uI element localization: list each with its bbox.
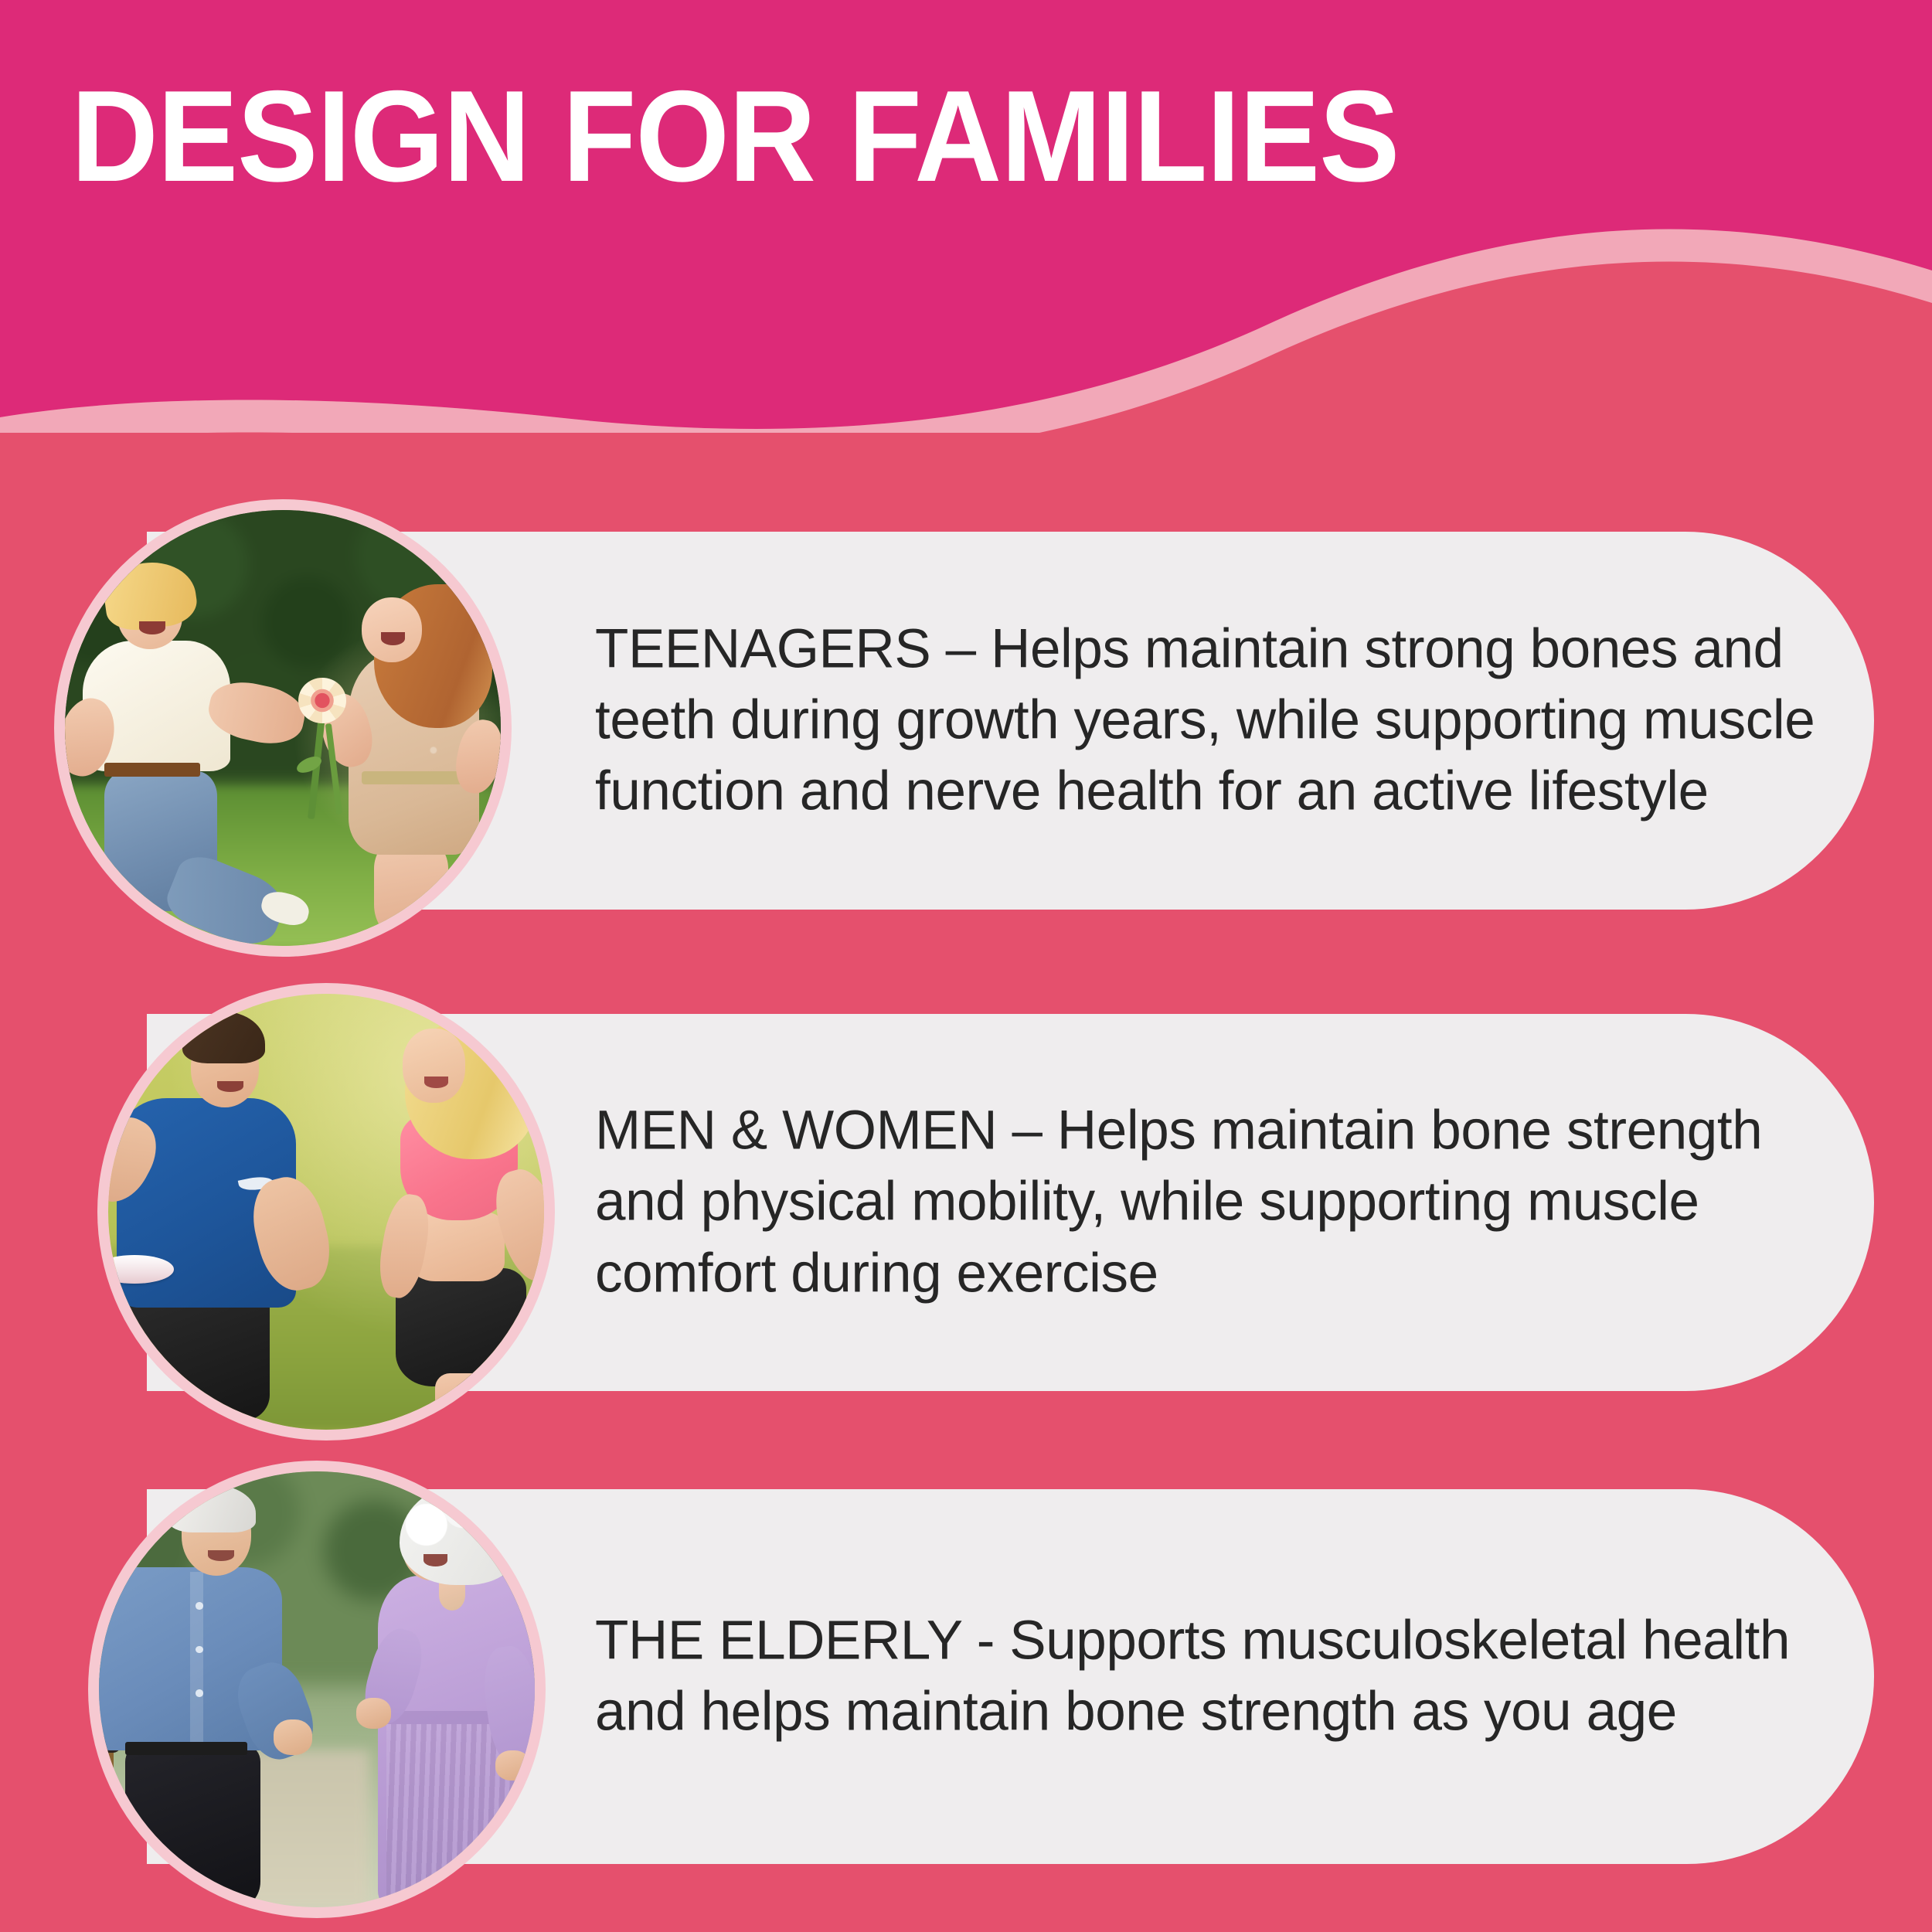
photo-circle-men-and-women <box>97 983 555 1440</box>
benefit-text-the-elderly: THE ELDERLY - Supports musculoskeletal h… <box>595 1605 1824 1748</box>
benefit-text-teenagers: TEENAGERS – Helps maintain strong bones … <box>595 614 1824 828</box>
photo-circle-the-elderly <box>88 1461 546 1918</box>
photo-men-and-women <box>108 994 544 1430</box>
photo-teenagers <box>65 510 501 946</box>
photo-the-elderly <box>99 1471 535 1907</box>
benefit-rows-container: TEENAGERS – Helps maintain strong bones … <box>0 0 1932 1932</box>
benefit-text-men-and-women: MEN & WOMEN – Helps maintain bone streng… <box>595 1096 1824 1310</box>
scene-men-and-women <box>108 994 544 1430</box>
scene-the-elderly <box>99 1471 535 1907</box>
scene-teenagers <box>65 510 501 946</box>
flower-icon <box>298 678 346 723</box>
walking-cane-icon <box>104 1746 114 1889</box>
photo-circle-teenagers <box>54 499 512 957</box>
